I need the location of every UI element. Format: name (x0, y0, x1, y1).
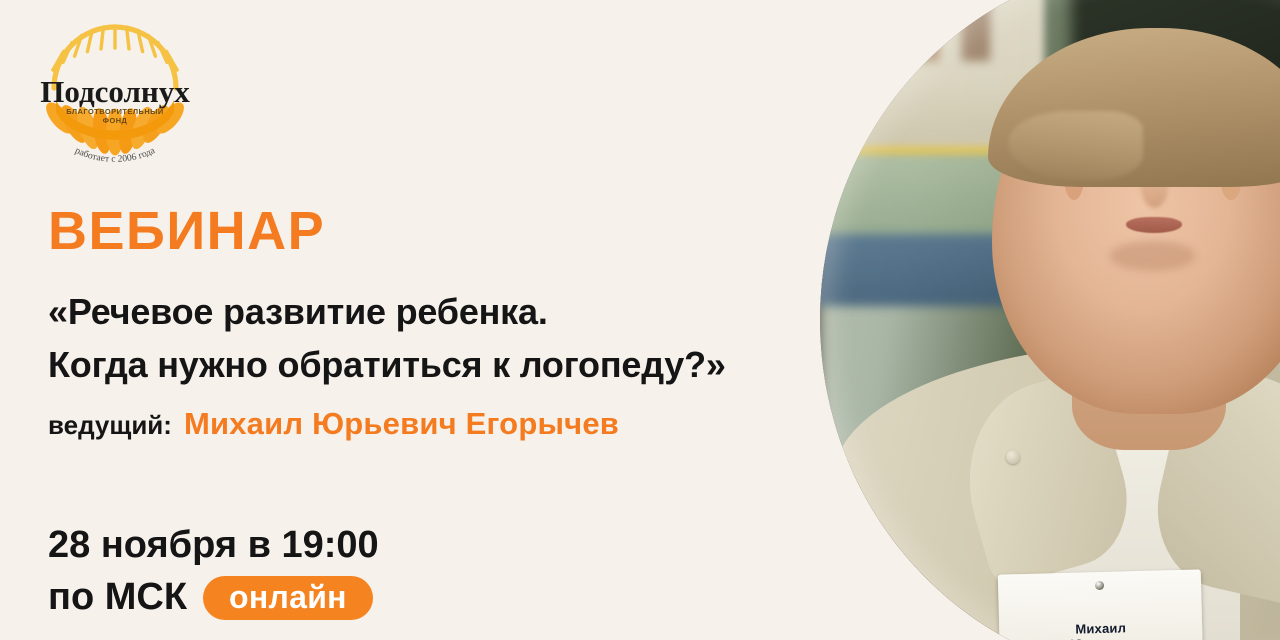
event-type-heading: ВЕБИНАР (48, 204, 325, 258)
presenter-hair (988, 28, 1280, 186)
presenter-photo: Михаил Юрьевич (820, 0, 1280, 640)
webinar-title: «Речевое развитие ребенка. Когда нужно о… (48, 286, 838, 392)
presenter-figure: Михаил Юрьевич (820, 0, 1280, 640)
webinar-title-line1: «Речевое развитие ребенка. (48, 286, 838, 339)
presenter-jacket-button (1006, 450, 1020, 464)
announcement-content: ВЕБИНАР «Речевое развитие ребенка. Когда… (48, 0, 838, 640)
schedule-block: 28 ноября в 19:00 по МСК онлайн (48, 522, 379, 622)
presenter-photo-image: Михаил Юрьевич (820, 0, 1280, 640)
badge-name-line2: Юрьевич (1070, 635, 1132, 640)
presenter-name-badge: Михаил Юрьевич (997, 569, 1202, 640)
format-badge: онлайн (203, 576, 373, 620)
schedule-timezone: по МСК (48, 574, 187, 622)
schedule-timezone-row: по МСК онлайн (48, 574, 379, 622)
presenter-mouth (1126, 217, 1182, 233)
host-name: Михаил Юрьевич Егорычев (184, 406, 619, 442)
webinar-title-line2: Когда нужно обратиться к логопеду?» (48, 339, 838, 392)
presenter-chin-shadow (1110, 241, 1196, 271)
webinar-poster: Михаил Юрьевич (0, 0, 1280, 640)
badge-pin-icon (1094, 581, 1103, 590)
host-row: ведущий: Михаил Юрьевич Егорычев (48, 406, 619, 442)
host-label: ведущий: (48, 410, 172, 441)
schedule-date-time: 28 ноября в 19:00 (48, 522, 379, 570)
badge-name-text: Михаил Юрьевич (1069, 621, 1131, 640)
